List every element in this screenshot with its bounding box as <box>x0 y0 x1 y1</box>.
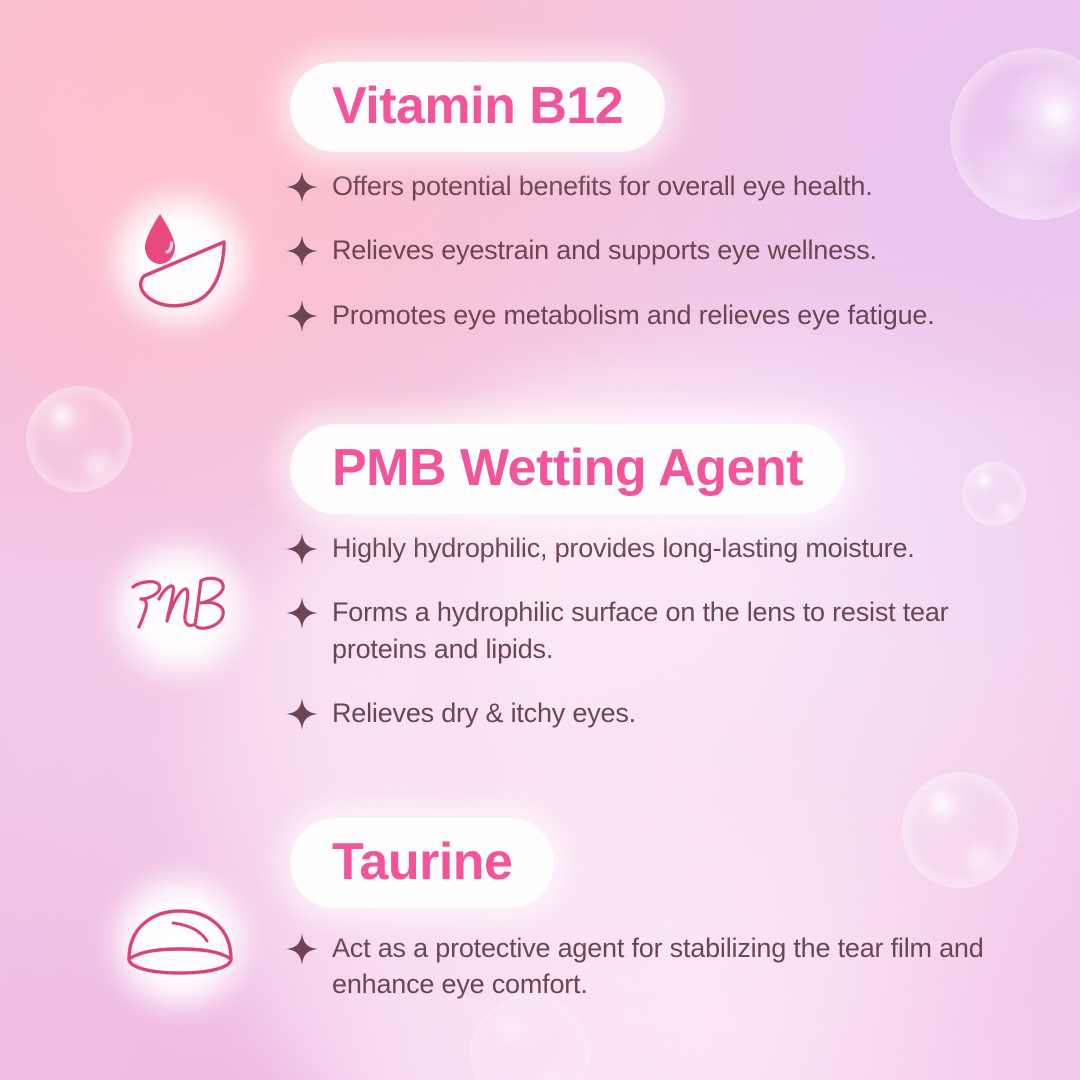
sparkle-four-point-icon <box>286 171 318 203</box>
section-title-pill-pmb: PMB Wetting Agent <box>290 424 845 514</box>
list-item: Highly hydrophilic, provides long-lastin… <box>286 530 1006 566</box>
poster-content: Vitamin B12 Offers potential benefits fo… <box>0 0 1080 1080</box>
bullet-text: Act as a protective agent for stabilizin… <box>332 930 992 1002</box>
bullet-text: Offers potential benefits for overall ey… <box>332 168 873 204</box>
list-item: Forms a hydrophilic surface on the lens … <box>286 594 1006 666</box>
section-title-vitamin-b12: Vitamin B12 <box>332 78 623 134</box>
section-vitamin-b12: Vitamin B12 Offers potential benefits fo… <box>0 62 1080 333</box>
bullet-text: Relieves dry & itchy eyes. <box>332 695 636 731</box>
bullet-text: Highly hydrophilic, provides long-lastin… <box>332 530 915 566</box>
sparkle-four-point-icon <box>286 933 318 965</box>
section-title-pmb: PMB Wetting Agent <box>332 440 803 496</box>
section-pmb-wetting-agent: PMB Wetting Agent Highly hydrophilic, pr… <box>0 424 1080 731</box>
bullet-list-pmb: Highly hydrophilic, provides long-lastin… <box>286 530 1006 731</box>
bullet-list-taurine: Act as a protective agent for stabilizin… <box>286 930 1006 1002</box>
list-item: Offers potential benefits for overall ey… <box>286 168 1006 204</box>
section-title-taurine: Taurine <box>332 834 512 890</box>
sparkle-four-point-icon <box>286 235 318 267</box>
bullet-list-vitamin-b12: Offers potential benefits for overall ey… <box>286 168 1006 333</box>
sparkle-four-point-icon <box>286 533 318 565</box>
section-title-pill-vitamin-b12: Vitamin B12 <box>290 62 665 152</box>
list-item: Promotes eye metabolism and relieves eye… <box>286 297 1006 333</box>
bullet-text: Forms a hydrophilic surface on the lens … <box>332 594 972 666</box>
sparkle-four-point-icon <box>286 698 318 730</box>
bullet-text: Promotes eye metabolism and relieves eye… <box>332 297 935 333</box>
list-item: Relieves eyestrain and supports eye well… <box>286 232 1006 268</box>
list-item: Act as a protective agent for stabilizin… <box>286 930 1006 1002</box>
section-title-pill-taurine: Taurine <box>290 818 554 908</box>
section-taurine: Taurine Act as a protective agent for st… <box>0 818 1080 1003</box>
sparkle-four-point-icon <box>286 300 318 332</box>
ingredient-benefits-poster: Vitamin B12 Offers potential benefits fo… <box>0 0 1080 1080</box>
bullet-text: Relieves eyestrain and supports eye well… <box>332 232 877 268</box>
sparkle-four-point-icon <box>286 597 318 629</box>
list-item: Relieves dry & itchy eyes. <box>286 695 1006 731</box>
